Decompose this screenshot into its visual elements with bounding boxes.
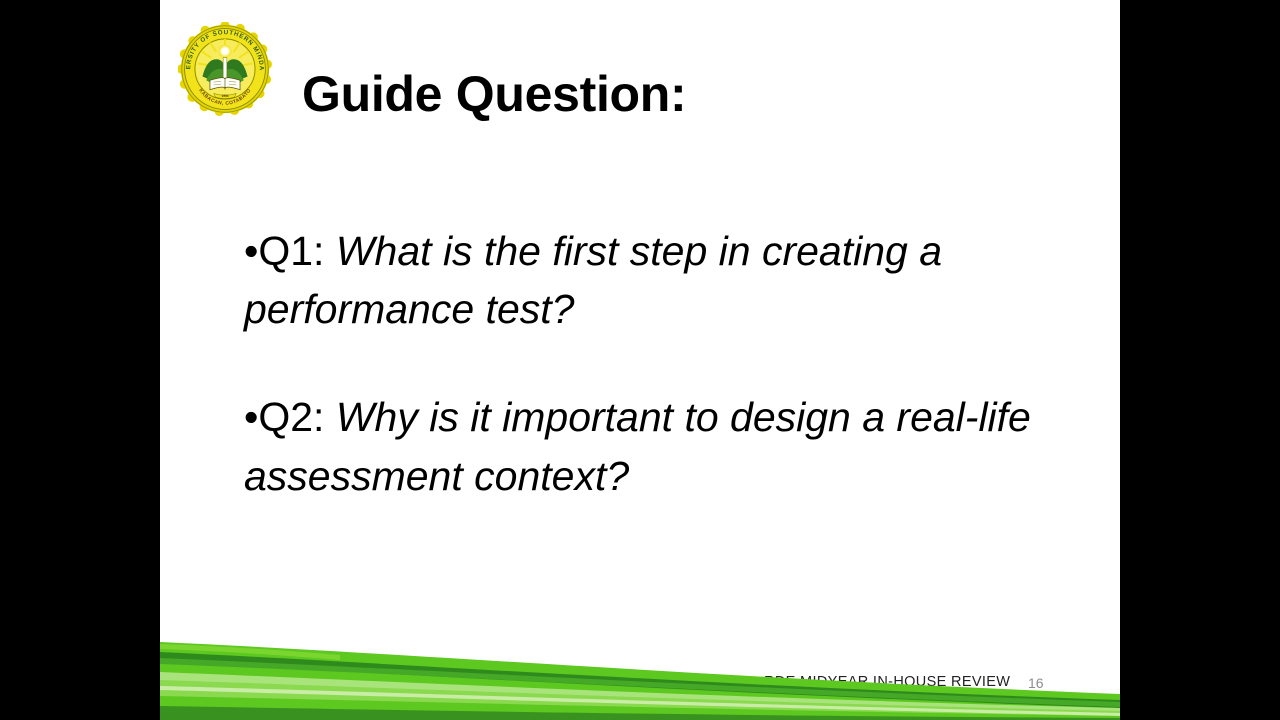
list-item: •Q2: Why is it important to design a rea…	[244, 388, 1084, 504]
bullet-marker: •	[244, 394, 258, 440]
bullet-text-q1: What is the first step in creating a per…	[244, 228, 942, 332]
bullet-label-q1: Q1:	[258, 228, 324, 274]
university-seal-logo: UNIVERSITY OF SOUTHERN MINDANAO KABACAN,…	[178, 22, 272, 116]
presentation-slide: UNIVERSITY OF SOUTHERN MINDANAO KABACAN,…	[160, 0, 1120, 720]
list-item: •Q1: What is the first step in creating …	[244, 222, 1084, 338]
bullet-label-q2: Q2:	[258, 394, 324, 440]
letterbox-left	[0, 0, 160, 720]
bullet-list: •Q1: What is the first step in creating …	[244, 222, 1084, 505]
slide-footer: RDE MIDYEAR IN-HOUSE REVIEW 16	[160, 674, 1120, 694]
letterbox-right	[1120, 0, 1280, 720]
footer-title: RDE MIDYEAR IN-HOUSE REVIEW	[764, 674, 1010, 690]
slide-number: 16	[1028, 675, 1044, 691]
page-title: Guide Question:	[302, 68, 686, 121]
bullet-marker: •	[244, 228, 258, 274]
svg-text:1954: 1954	[221, 94, 228, 98]
slide-viewer: UNIVERSITY OF SOUTHERN MINDANAO KABACAN,…	[0, 0, 1280, 720]
bullet-text-q2: Why is it important to design a real-lif…	[244, 394, 1031, 498]
seal-book	[210, 78, 240, 90]
